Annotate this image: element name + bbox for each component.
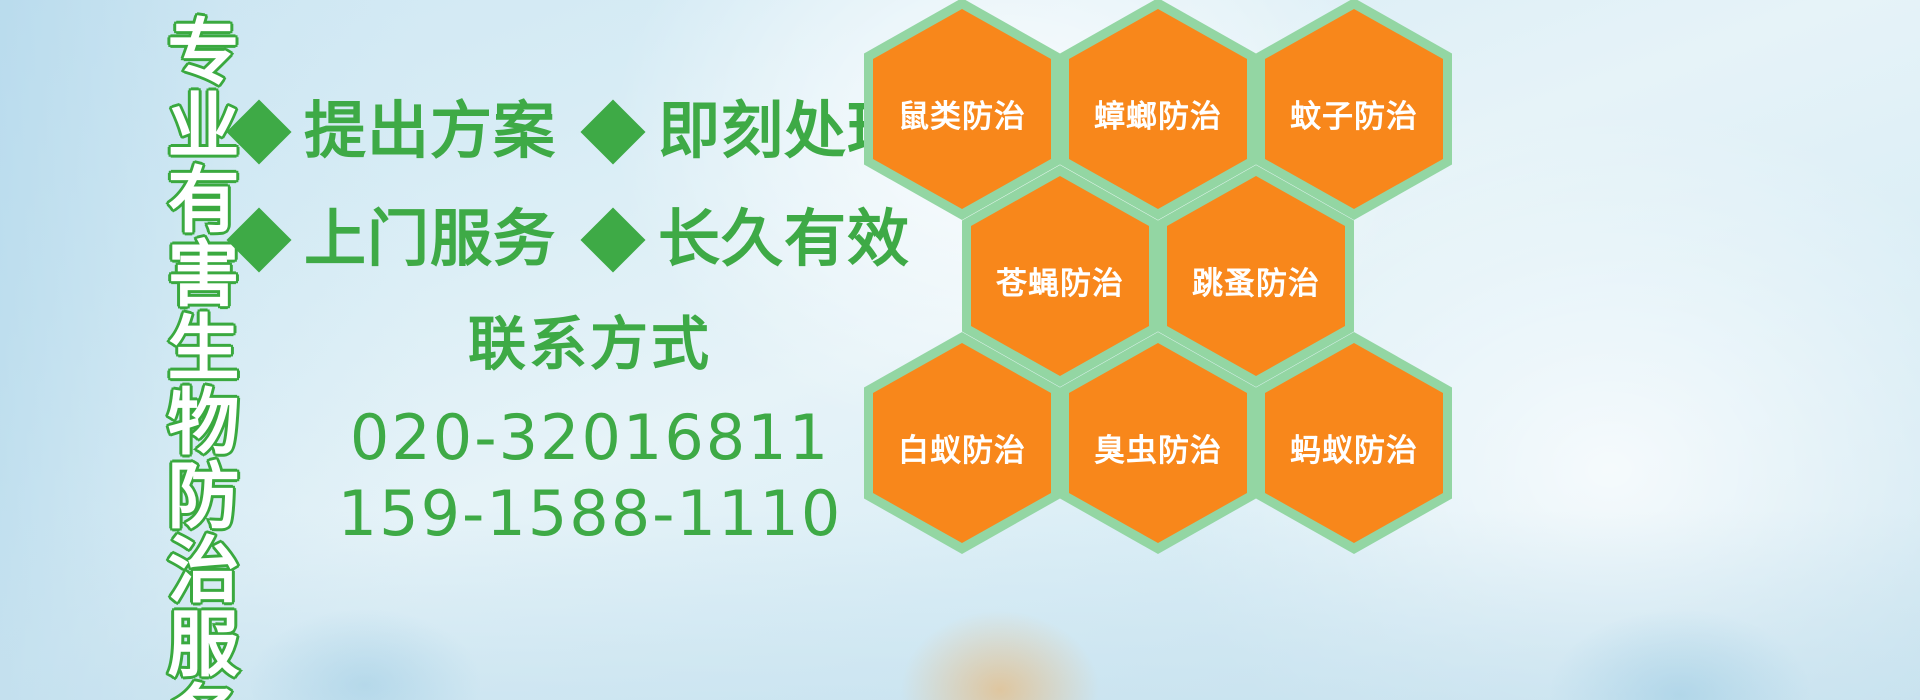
diamond-icon xyxy=(580,207,645,272)
hex-cell-ant-control[interactable]: 蚂蚁防治 xyxy=(1256,332,1452,554)
hex-cell-label: 蟑螂防治 xyxy=(1094,91,1222,136)
hex-cell-label: 跳蚤防治 xyxy=(1192,258,1320,303)
service-honeycomb: 鼠类防治 蟑螂防治 蚊子防治 苍蝇防治 跳蚤防治 白蚁防治 xyxy=(856,0,1476,590)
contact-phone-mobile[interactable]: 159-1588-1110 xyxy=(280,476,900,552)
hex-cell-label: 蚊子防治 xyxy=(1290,91,1418,136)
hex-cell-termite-control[interactable]: 白蚁防治 xyxy=(864,332,1060,554)
hex-cell-label: 臭虫防治 xyxy=(1094,425,1222,470)
background-blob-center xyxy=(900,610,1100,700)
feature-label: 提出方案 xyxy=(304,101,556,163)
pest-control-banner: 专业有害生物防治服务 提出方案 即刻处理 上门服务 长久有效 联系方式 xyxy=(0,0,1920,700)
hex-cell-label: 蚂蚁防治 xyxy=(1290,425,1418,470)
feature-item-door-to-door-service: 上门服务 xyxy=(236,209,556,271)
hex-cell-label: 苍蝇防治 xyxy=(996,258,1124,303)
hex-cell-label: 鼠类防治 xyxy=(898,91,1026,136)
diamond-icon xyxy=(226,99,291,164)
feature-item-propose-plan: 提出方案 xyxy=(236,101,556,163)
feature-row: 上门服务 长久有效 xyxy=(236,186,876,294)
hex-cell-bedbug-control[interactable]: 臭虫防治 xyxy=(1060,332,1256,554)
background-blob-left xyxy=(250,610,480,700)
contact-phone-landline[interactable]: 020-32016811 xyxy=(280,400,900,476)
feature-list: 提出方案 即刻处理 上门服务 长久有效 xyxy=(236,78,876,294)
vertical-headline: 专业有害生物防治服务 xyxy=(104,14,232,634)
contact-title: 联系方式 xyxy=(280,316,900,374)
background-blob-right xyxy=(1550,610,1810,700)
diamond-icon xyxy=(580,99,645,164)
contact-block: 联系方式 020-32016811 159-1588-1110 xyxy=(280,316,900,551)
feature-label: 上门服务 xyxy=(304,209,556,271)
feature-row: 提出方案 即刻处理 xyxy=(236,78,876,186)
diamond-icon xyxy=(226,207,291,272)
hex-cell-label: 白蚁防治 xyxy=(898,425,1026,470)
